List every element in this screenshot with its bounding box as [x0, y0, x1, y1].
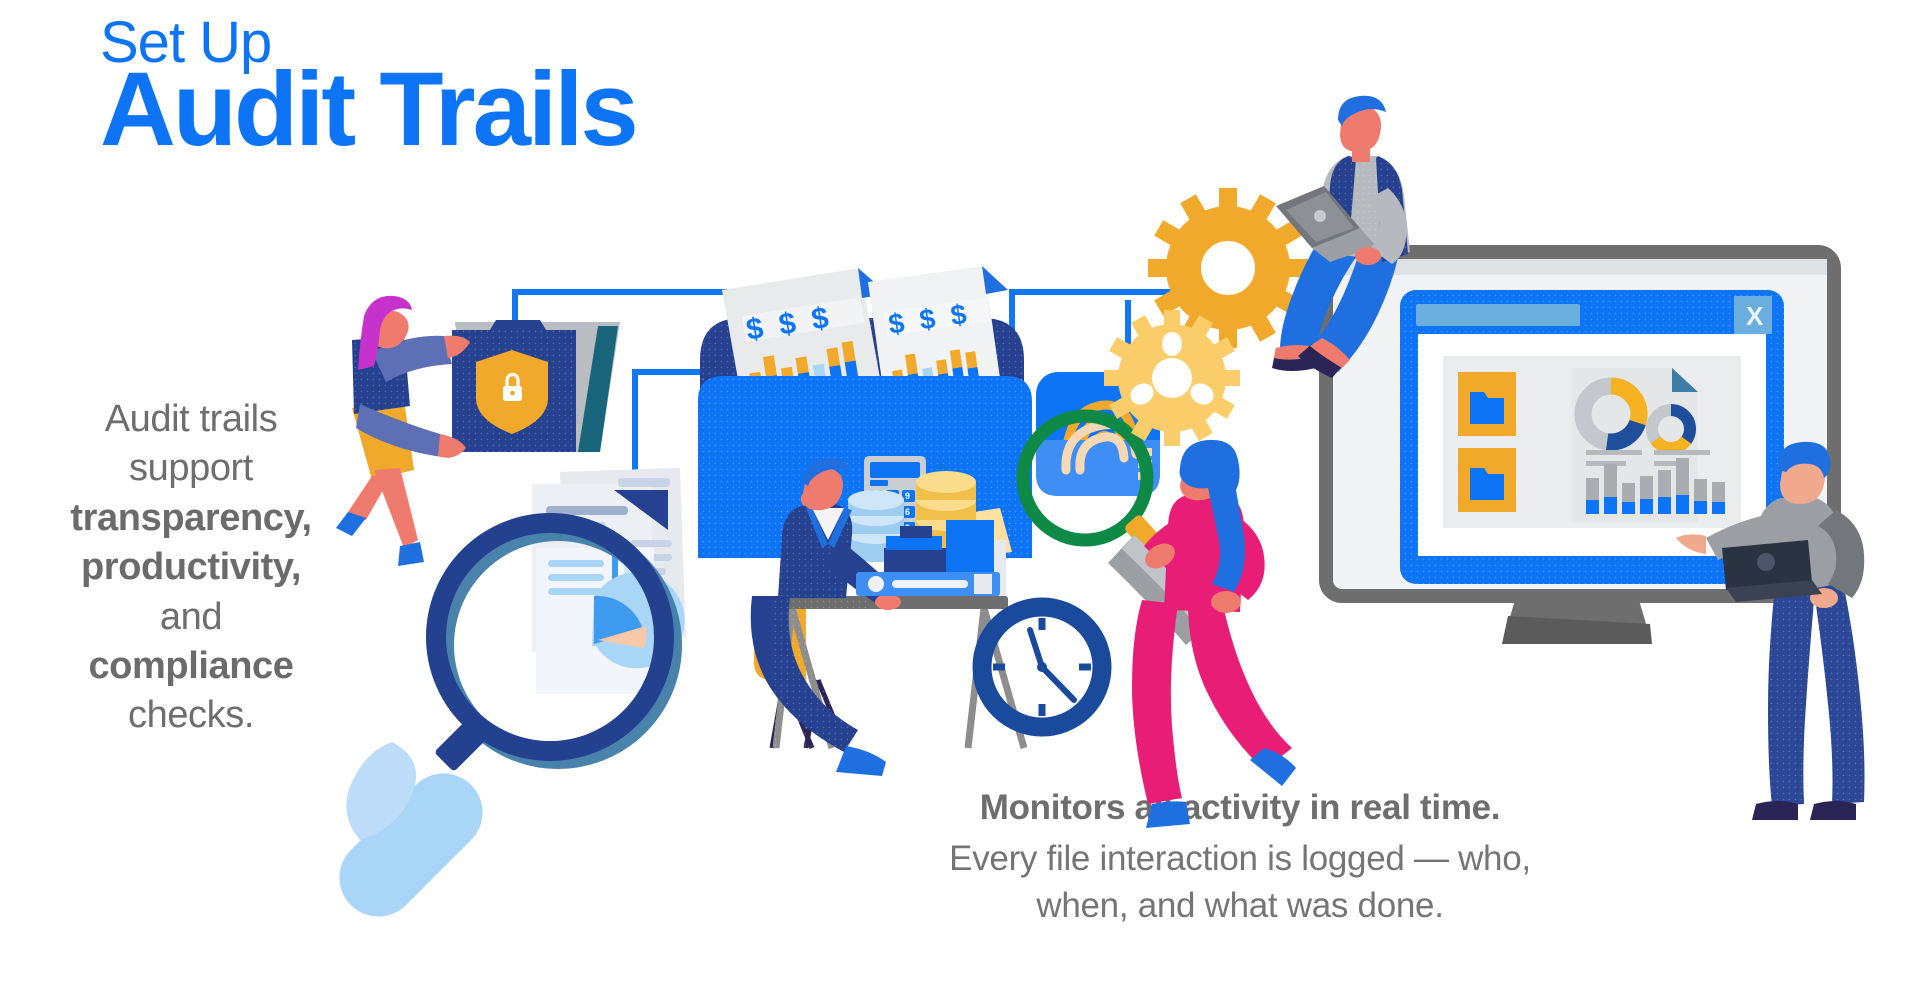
folder-tile-2: [1458, 448, 1516, 512]
close-button[interactable]: X: [1734, 296, 1772, 334]
close-icon: X: [1746, 301, 1764, 331]
person-holding-folder: [336, 296, 470, 566]
wall-clock: [982, 607, 1102, 727]
magnifier-handle: [323, 714, 498, 933]
illustration-scene: $ $ $: [0, 0, 1921, 1002]
gear-group: [1104, 188, 1308, 446]
svg-text:6: 6: [905, 507, 910, 517]
infographic-canvas: Set Up Audit Trails Audit trails support…: [0, 0, 1921, 1002]
folder-tile-1: [1458, 372, 1516, 436]
person-with-magnifier: [1108, 440, 1296, 828]
svg-text:9: 9: [905, 491, 910, 501]
secure-folder: [452, 320, 620, 452]
magnifier-over-report: [323, 468, 686, 933]
